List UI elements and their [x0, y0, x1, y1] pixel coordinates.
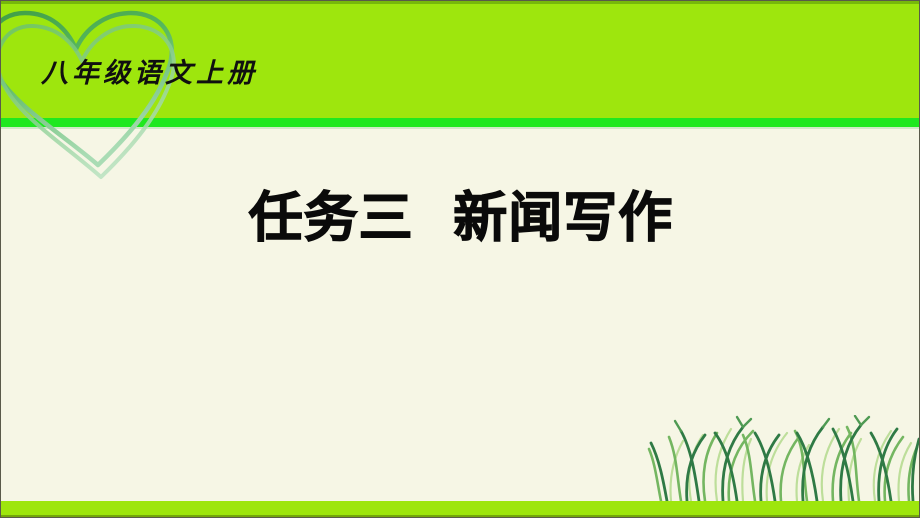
- header-accent-rule: [1, 118, 920, 127]
- grass-tuft-icon: [647, 415, 919, 501]
- header-top-rule: [1, 1, 920, 4]
- footer-strip: [1, 501, 920, 517]
- presentation-slide: 八年级语文上册 任务三 新闻写作: [0, 0, 920, 518]
- textbook-label: 八年级语文上册: [41, 51, 258, 90]
- footer-strip-rule: [1, 515, 920, 517]
- header-accent-rule-shadow: [1, 127, 920, 129]
- slide-title: 任务三 新闻写作: [1, 173, 920, 252]
